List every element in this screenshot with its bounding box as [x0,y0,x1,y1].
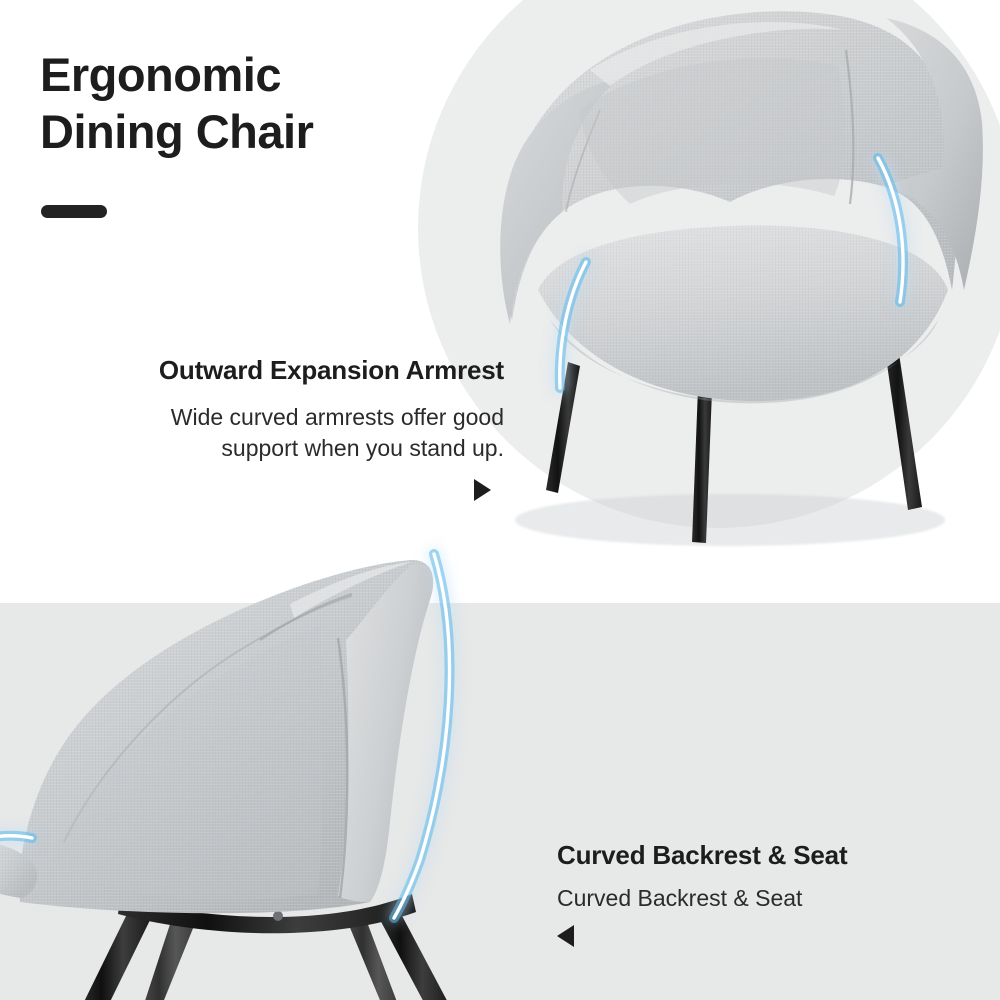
arrow-left-icon [557,925,574,947]
feature-armrest-description-line1: Wide curved armrests offer good [44,402,504,433]
feature-block-backrest: Curved Backrest & Seat Curved Backrest &… [557,840,977,912]
chair-front-three-quarter-photo [430,0,1000,610]
feature-armrest-title: Outward Expansion Armrest [44,355,504,386]
feature-backrest-title: Curved Backrest & Seat [557,840,977,871]
feature-armrest-description-line2: support when you stand up. [44,433,504,464]
chair-side-profile-photo [0,520,600,1000]
page-title: Ergonomic Dining Chair [40,46,460,161]
page-title-line2: Dining Chair [40,103,460,160]
title-underline-rule [41,205,107,218]
feature-armrest-description: Wide curved armrests offer good support … [44,402,504,463]
feature-block-armrest: Outward Expansion Armrest Wide curved ar… [44,355,504,463]
page-title-line1: Ergonomic [40,48,281,101]
arrow-right-icon [474,479,491,501]
feature-backrest-description: Curved Backrest & Seat [557,885,977,912]
infographic-page: Ergonomic Dining Chair Outward Expansion… [0,0,1000,1000]
